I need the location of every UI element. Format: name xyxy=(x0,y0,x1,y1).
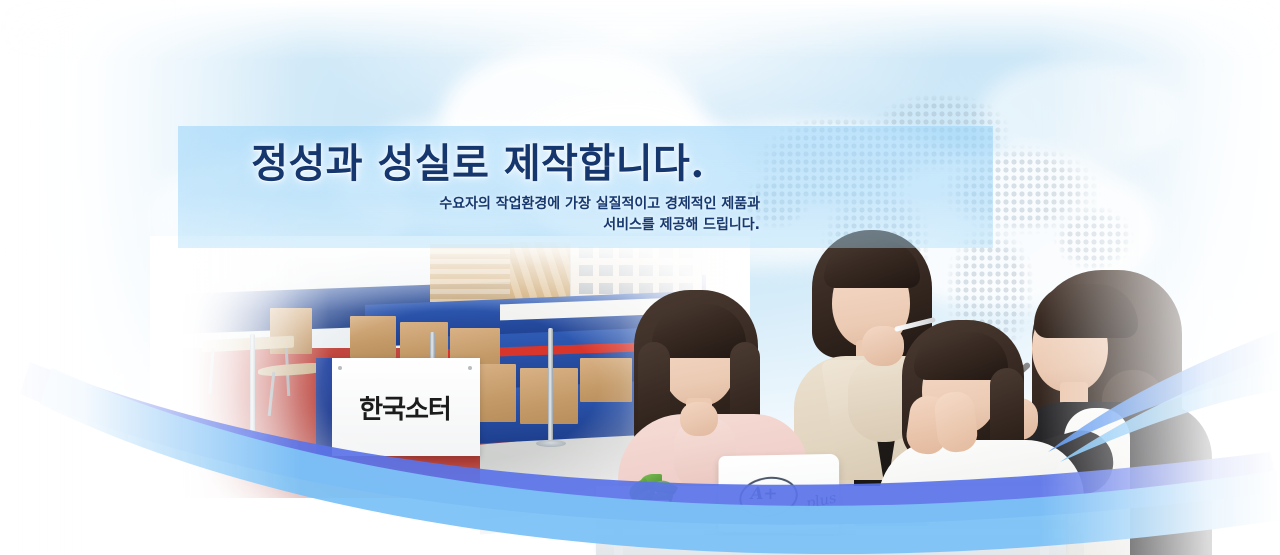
banner-subtitle-line-2: 서비스를 제공해 드립니다. xyxy=(300,215,760,236)
top-edge-fade xyxy=(0,0,1280,60)
company-sign-text: 한국소터 xyxy=(330,358,480,456)
banner-subtitle: 수요자의 작업환경에 가장 실질적이고 경제적인 제품과 서비스를 제공해 드립… xyxy=(300,194,760,236)
laptop-plus-text: plus xyxy=(805,490,838,512)
desk-papers-blue xyxy=(854,516,931,526)
promotional-banner: 한국소터 xyxy=(0,0,1280,555)
desk-leg xyxy=(614,529,623,555)
left-edge-fade xyxy=(0,0,300,555)
laptop-lid: A+ plus xyxy=(718,454,839,534)
plant-pot xyxy=(636,500,670,530)
right-edge-fade xyxy=(1040,0,1280,555)
company-sign: 한국소터 xyxy=(330,358,480,456)
laptop-aplus-text: A+ xyxy=(751,484,778,504)
banner-headline: 정성과 성실로 제작합니다. xyxy=(178,131,778,189)
banner-subtitle-line-1: 수요자의 작업환경에 가장 실질적이고 경제적인 제품과 xyxy=(300,194,760,215)
